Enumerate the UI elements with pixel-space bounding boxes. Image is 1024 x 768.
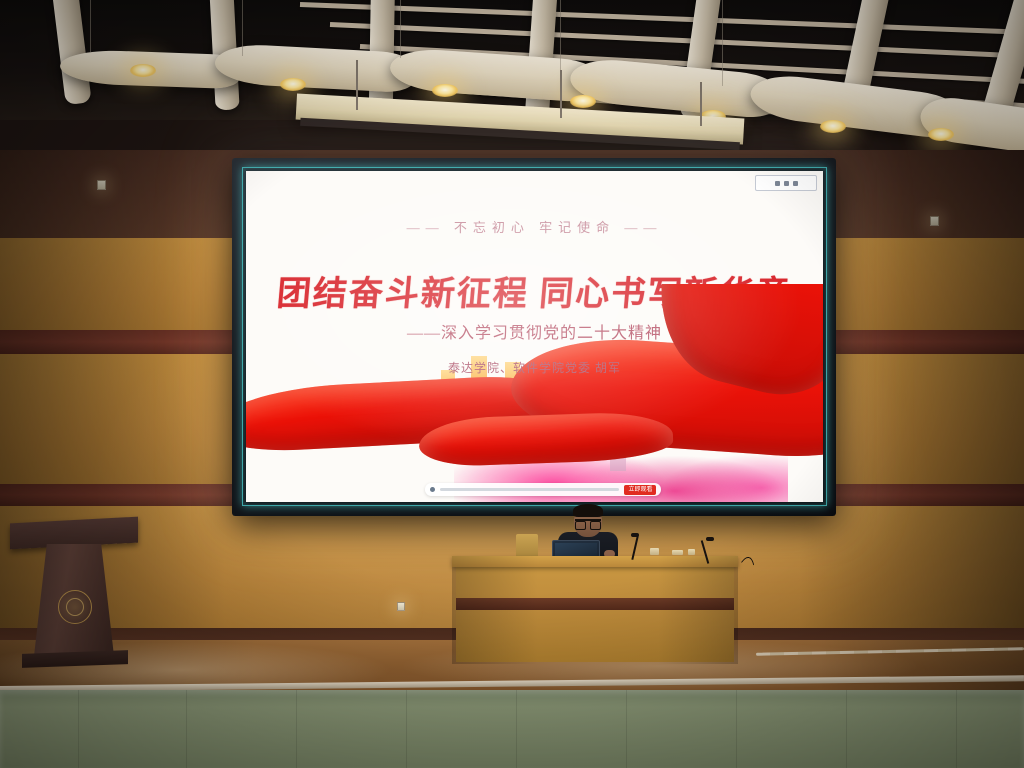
- progress-track[interactable]: [440, 488, 620, 491]
- apron-panel-seam: [406, 690, 407, 768]
- light-bar-hanger: [700, 82, 702, 126]
- speaker-desk[interactable]: [452, 556, 738, 664]
- podium[interactable]: [8, 520, 140, 672]
- ceiling: [0, 0, 1024, 168]
- apron-panel-seam: [956, 690, 957, 768]
- desk-object: [688, 549, 695, 555]
- apron-panel-seam: [78, 690, 79, 768]
- ceiling-wire: [722, 0, 723, 86]
- glasses-icon: [575, 519, 601, 526]
- light-bar-hanger: [356, 60, 358, 110]
- podium-base: [22, 650, 128, 668]
- wall-light-fixture: [97, 180, 106, 190]
- presentation-slide[interactable]: —— 不忘初心 牢记使命 —— 团结奋斗新征程 同心书写新华章 ——深入学习贯彻…: [246, 171, 823, 502]
- watch-now-badge[interactable]: 立即观看: [624, 485, 656, 495]
- wall-light-fixture: [930, 216, 939, 226]
- apron-panel-seam: [626, 690, 627, 768]
- desk-object: [650, 548, 659, 555]
- ceiling-wire: [90, 0, 91, 52]
- ceiling-downlight: [820, 120, 846, 133]
- apron-panel-seam: [516, 690, 517, 768]
- ceiling-wire: [400, 0, 401, 58]
- play-icon[interactable]: [430, 487, 435, 492]
- lecture-hall-scene: —— 不忘初心 牢记使命 —— 团结奋斗新征程 同心书写新华章 ——深入学习贯彻…: [0, 0, 1024, 768]
- desk-monitor-back: [516, 534, 538, 558]
- projection-screen[interactable]: —— 不忘初心 牢记使命 —— 团结奋斗新征程 同心书写新华章 ——深入学习贯彻…: [232, 158, 836, 516]
- apron-panel-seam: [736, 690, 737, 768]
- slide-presenter-line: 泰达学院、软件学院党委 胡军: [246, 359, 823, 376]
- slide-kicker-text: —— 不忘初心 牢记使命 ——: [246, 217, 823, 236]
- ceiling-downlight: [280, 78, 306, 91]
- slide-corner-toolbar[interactable]: [755, 175, 817, 191]
- university-emblem-icon: [58, 590, 92, 624]
- microphone-head[interactable]: [706, 537, 714, 541]
- apron-panel-seam: [296, 690, 297, 768]
- toolbar-dot-icon: [784, 181, 789, 186]
- apron-panel-seam: [846, 690, 847, 768]
- slide-artwork: [246, 284, 823, 502]
- ceiling-downlight: [432, 84, 458, 97]
- apron-panel-seam: [186, 690, 187, 768]
- ceiling-downlight: [570, 95, 596, 108]
- ceiling-wire: [560, 0, 561, 70]
- ceiling-downlight: [928, 128, 954, 141]
- slide-playback-bar[interactable]: 立即观看: [425, 483, 662, 496]
- microphone-head[interactable]: [631, 533, 639, 537]
- stage-apron: [0, 690, 1024, 768]
- toolbar-dot-icon: [793, 181, 798, 186]
- ceiling-downlight: [130, 64, 156, 77]
- light-bar-hanger: [560, 70, 562, 118]
- toolbar-dot-icon: [775, 181, 780, 186]
- wall-outlet: [397, 602, 405, 611]
- presenter-hair: [573, 504, 603, 517]
- desk-object: [672, 550, 683, 555]
- ceiling-wire: [242, 0, 243, 56]
- desk-shading: [452, 556, 738, 664]
